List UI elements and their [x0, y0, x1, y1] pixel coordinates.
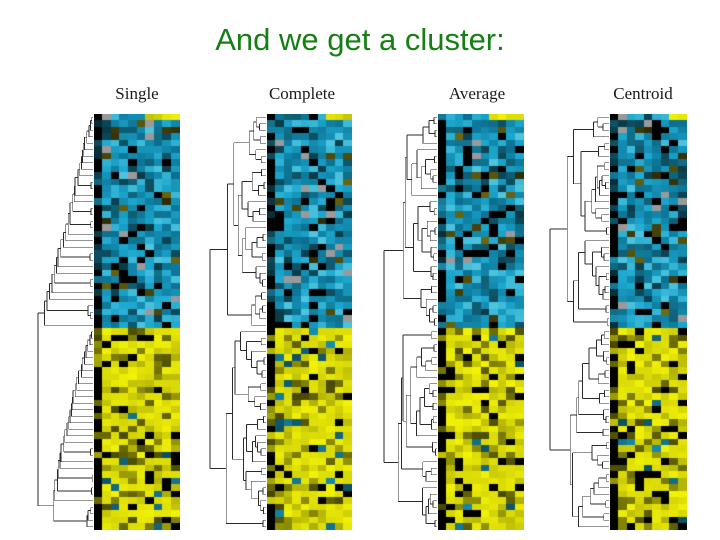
page-title: And we get a cluster:: [0, 22, 720, 58]
heatmap-average: [438, 114, 524, 530]
heatmap-canvas: [438, 114, 524, 530]
dendrogram-svg: [36, 114, 94, 530]
heatmap-canvas: [267, 114, 352, 530]
heatmap-centroid: [610, 114, 687, 530]
dendrogram-svg: [382, 114, 438, 530]
panel-label-average: Average: [382, 84, 572, 104]
dendrogram-svg: [548, 114, 610, 530]
panel-label-centroid: Centroid: [548, 84, 720, 104]
panel-body-centroid: [548, 114, 720, 530]
dendrogram-centroid: [548, 114, 610, 530]
heatmap-single: [94, 114, 180, 530]
dendrogram-average: [382, 114, 438, 530]
panel-body-average: [382, 114, 572, 530]
heatmap-canvas: [610, 114, 687, 530]
heatmap-complete: [267, 114, 352, 530]
panel-body-complete: [208, 114, 396, 530]
dendrogram-complete: [208, 114, 267, 530]
panel-label-complete: Complete: [208, 84, 396, 104]
dendrogram-single: [36, 114, 94, 530]
dendrogram-svg: [208, 114, 267, 530]
slide-canvas: And we get a cluster: Single Complete Av…: [0, 0, 720, 540]
heatmap-canvas: [94, 114, 180, 530]
